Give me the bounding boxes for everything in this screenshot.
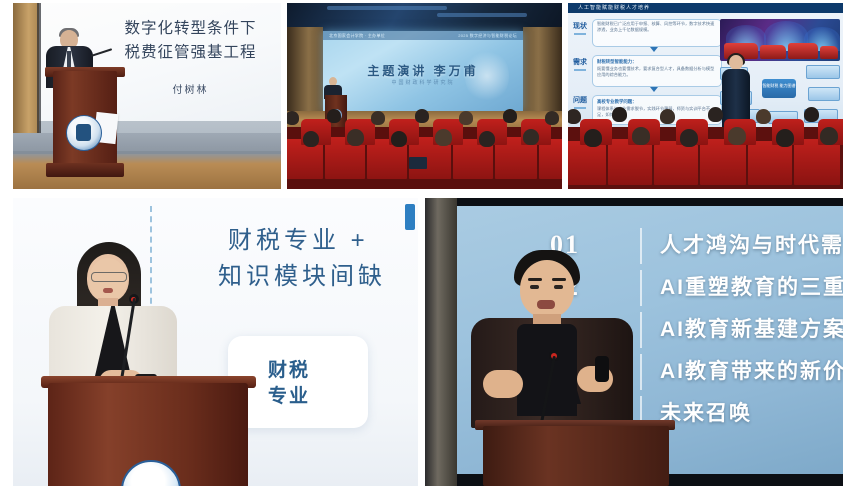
wood-wall-panel [13,3,39,143]
agenda-text: 人才鸿沟与时代需 [660,229,843,259]
seat [568,141,606,185]
podium [483,426,669,486]
speaker-mouth [103,288,113,293]
slide-top-bar: 人工智能赋能财税人才培养 [568,3,843,13]
panel-female-speaker-finance[interactable]: 财税专业 + 知识模块间缺 财税专业 中央财经大学 [13,198,418,486]
audience-head [612,107,627,122]
seat [608,139,652,185]
slide-title-text-2: 税费征管强基工程 [103,41,278,65]
slide-section-rail: 现状 需求 问题 [570,21,590,117]
screen-banner-right: 2025 数字经济与智能财税论坛 [458,33,517,39]
agenda-text: AI教育新基建方案 [660,313,843,343]
rail-label: 现状 [573,23,587,30]
rail-label: 问题 [573,97,587,104]
screen-subtitle: 中国财政科学研究院 [323,79,523,86]
agenda-separator [640,354,642,390]
agenda-separator [640,228,642,264]
audience-head [804,107,819,122]
seat [539,139,562,179]
card-body: 既要懂业务也要懂技术，要求复合型人才，具备数据分析与模型应用的综合能力。 [597,66,717,79]
photo-analysis-presentation: 人工智能赋能财税人才培养 现状 需求 问题 智能财税已广泛应用于申报、核算、风控… [568,3,843,189]
analysis-card: 财税转型智能能力： 既要懂业务也要懂技术，要求复合型人才，具备数据分析与模型应用… [592,55,722,87]
diagram-node [806,65,840,79]
glasses-icon [91,272,127,282]
presentation-clicker [595,356,609,382]
slide-author: 付树林 [103,81,278,96]
rail-label: 需求 [573,59,587,66]
audience-head [545,111,559,125]
agenda-separator [640,270,642,306]
slide-top-bar-text: 人工智能赋能财税人才培养 [578,4,650,11]
card-heading: 高校专业教学问题： [593,96,721,105]
photo-male-speaker: 01 人才鸿沟与时代需 02 AI重塑教育的三重 AI教育新基建方案 [425,198,843,486]
audience-head [820,127,838,145]
slide-surface: 人工智能赋能财税人才培养 现状 需求 问题 智能财税已广泛应用于申报、核算、风控… [568,3,843,129]
diagram-hub: 智能财税 能力图谱 [762,79,796,98]
audience-head [303,131,319,147]
audience-head [347,129,364,146]
panel-analysis-slide[interactable]: 人工智能赋能财税人才培养 现状 需求 问题 智能财税已广泛应用于申报、核算、风控… [568,3,843,189]
speaker-tie [67,51,71,67]
agenda-text: AI重塑教育的三重 [660,271,843,301]
led-screen: 北京国家会计学院 · 主办单位 2025 数字经济与智能财税论坛 主题演讲 李万… [323,31,523,111]
card-line-1: 财税 [268,360,310,381]
slide-title-line-1: 数字化转型条件下 税费征管强基工程 [103,17,278,65]
audience-head [708,107,723,122]
accent-mark [405,204,415,230]
speaker-head [520,260,574,318]
speaker-hand-left [483,370,523,398]
down-arrow-icon [650,87,658,92]
audience-head [435,129,452,146]
slide-line-2: 知识模块间缺 [218,256,386,291]
presenter-head [729,55,743,70]
audience-head [756,109,771,124]
agenda-text: AI教育带来的新价 [660,355,843,385]
audience-head [415,109,429,123]
audience-head [680,129,698,147]
vehicle [820,46,838,59]
analysis-card: 智能财税已广泛应用于申报、核算、风控等环节，数字技术快速渗透，业务上千亿数据规模… [592,19,722,47]
seat [654,141,698,185]
photo-collage: 数字化转型条件下 税费征管强基工程 付树林 [0,0,843,486]
audience-seating [287,127,562,189]
slide-line-1: 财税专业 + [228,220,369,255]
seat [700,139,746,185]
ceiling-beam [437,13,527,17]
vehicle [788,43,818,59]
audience-head [660,109,675,124]
slide-title-text-1: 数字化转型条件下 [103,17,278,41]
audience-head [523,129,539,145]
rail-item-demand: 需求 [570,59,590,83]
card-line-2: 专业 [268,386,310,407]
wall-edge [37,3,41,153]
speaker-brow [552,278,566,281]
speaker-eye [554,285,563,289]
rail-item-status: 现状 [570,23,590,47]
audience-head [287,111,299,125]
laptop-screen [409,157,427,169]
university-emblem-icon [66,115,102,151]
speaker-mouth [537,300,555,309]
seat [794,139,840,185]
speaker-brow [528,278,542,281]
diagram-node [808,87,840,101]
audience-head [327,109,341,123]
panel-male-speaker-ai-agenda[interactable]: 01 人才鸿沟与时代需 02 AI重塑教育的三重 AI教育新基建方案 [425,198,843,486]
audience-head [728,127,746,145]
card-body: 智能财税已广泛应用于申报、核算、风控等环节，数字技术快速渗透，业务上千亿数据规模… [597,21,717,34]
audience-head [391,131,407,147]
vehicle [760,45,786,59]
audience-head [479,131,495,147]
podium-base [46,163,124,177]
panel-keynote-fu-shulin[interactable]: 数字化转型条件下 税费征管强基工程 付树林 [13,3,281,189]
audience-head [584,129,602,147]
photo-main-hall: 北京国家会计学院 · 主办单位 2025 数字经济与智能财税论坛 主题演讲 李万… [287,3,562,189]
agenda-separator [640,312,642,348]
audience-head [503,109,517,123]
audience-seating [568,127,843,189]
screen-banner-left: 北京国家会计学院 · 主办单位 [329,33,385,39]
card-text: 财税专业 [268,358,310,409]
audience-head [568,109,581,124]
down-arrow-icon [650,47,658,52]
audience-head [776,129,794,147]
photo-auditorium-podium: 数字化转型条件下 税费征管强基工程 付树林 [13,3,281,189]
wall-strip-left [425,198,457,486]
card-heading: 财税转型智能能力： [593,56,721,65]
speaker-eye [530,285,539,289]
ceiling-beam [327,6,447,10]
screen-title: 主题演讲 李万甫 [323,62,523,79]
screen-header-bar: 北京国家会计学院 · 主办单位 2025 数字经济与智能财税论坛 [323,31,523,40]
seat [748,141,792,185]
audience-head [632,127,650,145]
panel-main-hall-keynote[interactable]: 北京国家会计学院 · 主办单位 2025 数字经济与智能财税论坛 主题演讲 李万… [287,3,562,189]
audience-head [459,111,473,125]
photo-female-speaker: 财税专业 + 知识模块间缺 财税专业 中央财经大学 [13,198,418,486]
audience-head [371,111,385,125]
